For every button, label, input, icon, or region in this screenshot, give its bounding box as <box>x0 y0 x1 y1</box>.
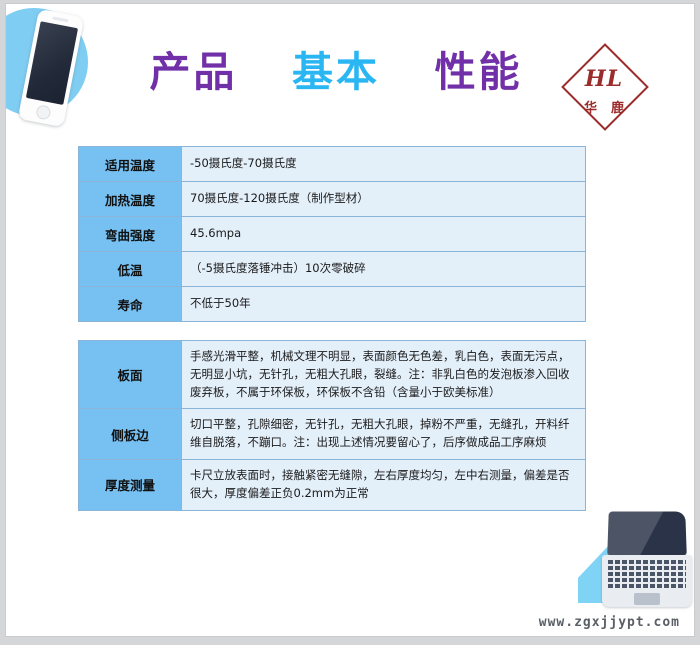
quality-value-2: 卡尺立放表面时，接触紧密无缝隙，左右厚度均匀，左中右测量，偏差是否很大，厚度偏差… <box>182 460 586 511</box>
title-part-3: 性能 <box>435 52 523 93</box>
spec-key-3: 低温 <box>79 252 182 287</box>
spec-key-4: 寿命 <box>79 287 182 322</box>
table-row: 寿命 不低于50年 <box>79 287 586 322</box>
quality-inspection-table: 板面 手感光滑平整，机械文理不明显，表面颜色无色差，乳白色，表面无污点，无明显小… <box>78 340 586 511</box>
table-row: 厚度测量 卡尺立放表面时，接触紧密无缝隙，左右厚度均匀，左中右测量，偏差是否很大… <box>79 460 586 511</box>
spec-value-3: （-5摄氏度落锤冲击）10次零破碎 <box>182 252 586 287</box>
phone-home-button-icon <box>35 104 51 120</box>
table-row: 侧板边 切口平整，孔隙细密，无针孔，无粗大孔眼，掉粉不严重，无缝孔，开料纤维自脱… <box>79 409 586 460</box>
laptop-illustration <box>596 509 694 615</box>
table-row: 弯曲强度 45.6mpa <box>79 217 586 252</box>
website-watermark: www.zgxjjypt.com <box>6 615 694 630</box>
quality-value-1: 切口平整，孔隙细密，无针孔，无粗大孔眼，掉粉不严重，无缝孔，开料纤维自脱落，不蹦… <box>182 409 586 460</box>
spec-value-2: 45.6mpa <box>182 217 586 252</box>
quality-key-1: 侧板边 <box>79 409 182 460</box>
table-row: 加热温度 70摄氏度-120摄氏度（制作型材） <box>79 182 586 217</box>
table-row: 低温 （-5摄氏度落锤冲击）10次零破碎 <box>79 252 586 287</box>
laptop-screen-icon <box>607 512 687 556</box>
smartphone-illustration <box>6 4 124 154</box>
quality-key-2: 厚度测量 <box>79 460 182 511</box>
logo-company-name: 华鹿 <box>558 97 650 116</box>
quality-key-0: 板面 <box>79 341 182 409</box>
spec-key-1: 加热温度 <box>79 182 182 217</box>
laptop-screen-glare <box>607 512 687 556</box>
spec-key-0: 适用温度 <box>79 147 182 182</box>
phone-earpiece-icon <box>52 16 68 22</box>
spec-value-1: 70摄氏度-120摄氏度（制作型材） <box>182 182 586 217</box>
brand-logo: HL 华鹿 <box>558 52 650 132</box>
spec-value-0: -50摄氏度-70摄氏度 <box>182 147 586 182</box>
title-part-1: 产品 <box>149 52 237 93</box>
laptop-trackpad-icon <box>634 593 660 605</box>
specification-table: 适用温度 -50摄氏度-70摄氏度 加热温度 70摄氏度-120摄氏度（制作型材… <box>78 146 586 322</box>
quality-value-0: 手感光滑平整，机械文理不明显，表面颜色无色差，乳白色，表面无污点，无明显小坑，无… <box>182 341 586 409</box>
table-row: 板面 手感光滑平整，机械文理不明显，表面颜色无色差，乳白色，表面无污点，无明显小… <box>79 341 586 409</box>
spec-value-4: 不低于50年 <box>182 287 586 322</box>
title-part-2: 基本 <box>292 52 380 93</box>
table-row: 适用温度 -50摄氏度-70摄氏度 <box>79 147 586 182</box>
spec-key-2: 弯曲强度 <box>79 217 182 252</box>
page-title: 产品 基本 性能 <box>126 52 546 93</box>
laptop-keyboard-icon <box>608 560 686 590</box>
slide-page: 产品 基本 性能 HL 华鹿 适用温度 -50摄氏度-70摄氏度 加热温度 70… <box>6 4 694 636</box>
logo-monogram: HL <box>558 66 650 92</box>
